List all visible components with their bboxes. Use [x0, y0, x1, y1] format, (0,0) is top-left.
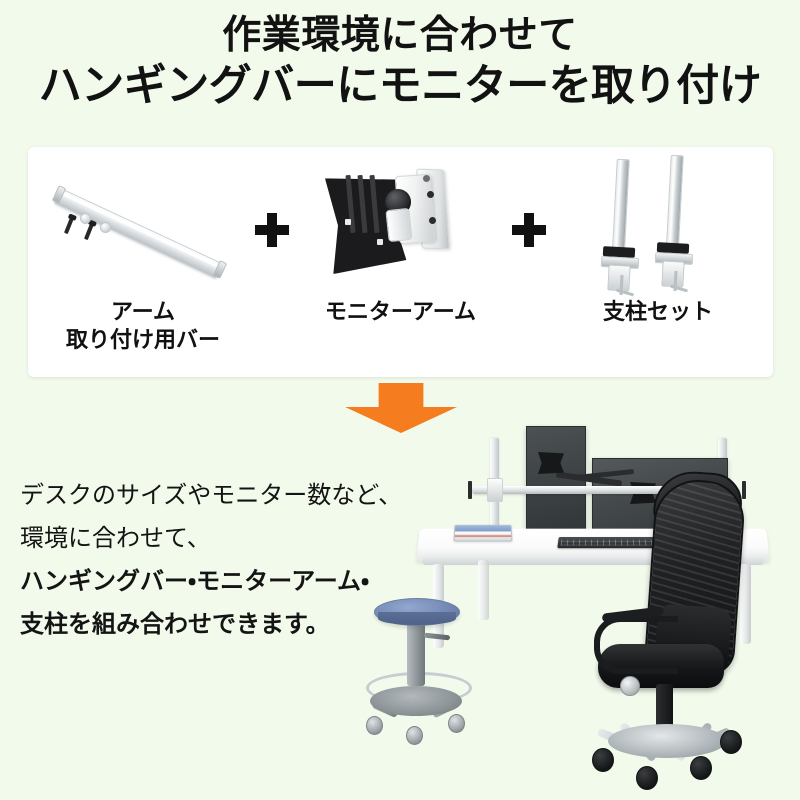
headline-line-1: 作業環境に合わせて [0, 16, 800, 65]
part-label: 支柱セット [603, 298, 713, 326]
stool-seat [374, 598, 460, 626]
plus-separator-2 [506, 147, 552, 377]
blue-stool [356, 598, 476, 748]
black-mesh-office-chair [592, 480, 792, 800]
desk-setup-photo [330, 420, 800, 800]
arm-pivot-collar-shape [385, 208, 412, 242]
chair-caster [690, 756, 712, 780]
bracket-bolt [429, 217, 436, 224]
support-pole-set-photo [558, 153, 758, 298]
plus-icon [512, 213, 546, 247]
chair-base [608, 724, 726, 758]
portrait-monitor [526, 426, 586, 540]
chair-tilt-knob [620, 676, 640, 696]
plus-separator-1 [249, 147, 295, 377]
chair-caster [720, 730, 742, 754]
bar-clamp-left [487, 478, 503, 502]
arm-mounting-bar-photo [43, 153, 243, 298]
screw-icon [64, 217, 74, 234]
part-item-arm-mounting-bar: アーム 取り付け用バー [38, 147, 248, 377]
vesa-hole [377, 239, 383, 245]
stool-caster [366, 716, 383, 735]
part-item-monitor-arm: モニターアーム [296, 147, 506, 377]
stool-height-lever [424, 633, 450, 641]
bracket-hole [423, 175, 430, 182]
aluminium-bar-shape [53, 188, 223, 279]
plus-icon [255, 213, 289, 247]
stool-caster [448, 714, 465, 733]
part-item-support-pole-set: 支柱セット [553, 147, 763, 377]
vesa-plate-portrait [538, 452, 564, 474]
desk-leg [478, 560, 489, 620]
chair-caster [636, 766, 658, 790]
monitor-arm-photo [301, 153, 501, 298]
stool-base [370, 686, 462, 716]
bar-end-left [468, 481, 472, 499]
parts-card: アーム 取り付け用バー [28, 147, 773, 377]
washer-icon [100, 222, 111, 233]
stool-caster [406, 726, 423, 745]
bracket-bolt [427, 191, 434, 198]
part-label: アーム 取り付け用バー [66, 298, 220, 354]
part-label: モニターアーム [325, 298, 476, 326]
screw-icon [84, 223, 94, 240]
parts-row: アーム 取り付け用バー [28, 147, 773, 377]
infographic-root: 作業環境に合わせて ハンギングバーにモニターを取り付け [0, 0, 800, 800]
chair-caster [592, 748, 614, 772]
book [454, 525, 513, 542]
stool-column [407, 622, 425, 686]
chair-armrest [594, 616, 678, 674]
washer-icon [80, 213, 91, 224]
headline-line-2: ハンギングバーにモニターを取り付け [0, 65, 800, 108]
vesa-hole [345, 219, 351, 225]
page-title: 作業環境に合わせて ハンギングバーにモニターを取り付け [0, 16, 800, 108]
